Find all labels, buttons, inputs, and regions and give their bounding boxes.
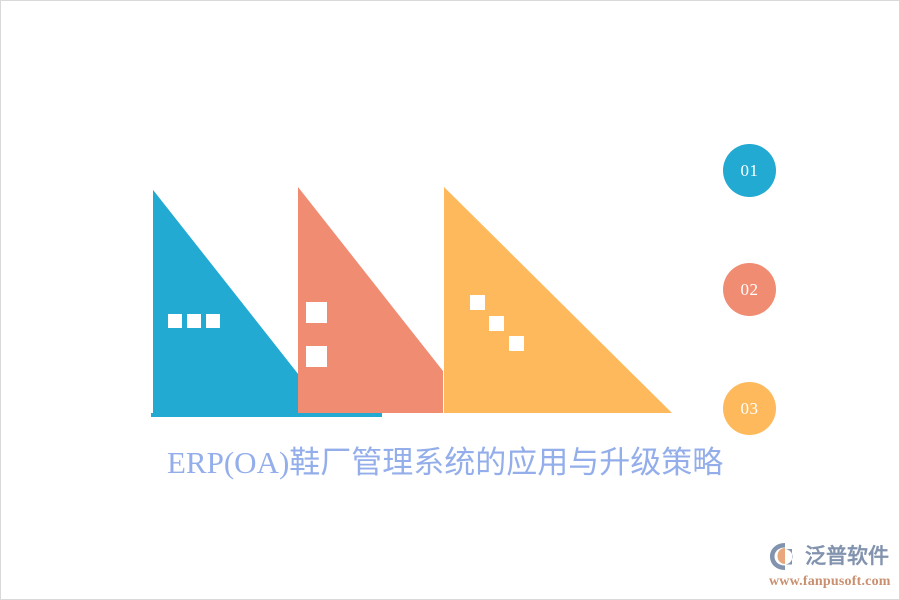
logo-url: www.fanpusoft.com [769,574,895,590]
marker-circle-03[interactable]: 03 [723,382,776,435]
window-blue-2 [187,314,201,328]
window-blue-1 [168,314,182,328]
logo-row: 泛普软件 [769,539,895,573]
window-salmon-2 [306,346,327,367]
marker-label-01: 01 [741,161,759,181]
logo-wordmark: 泛普软件 [805,541,889,571]
salmon-triangle-shape [298,187,443,413]
window-orange-1 [470,295,485,310]
marker-label-03: 03 [741,399,759,419]
window-orange-2 [489,316,504,331]
window-blue-3 [206,314,220,328]
window-salmon-1 [306,302,327,323]
slide-title: ERP(OA)鞋厂管理系统的应用与升级策略 [167,437,687,482]
marker-label-02: 02 [741,280,759,300]
marker-circle-02[interactable]: 02 [723,263,776,316]
marker-circle-01[interactable]: 01 [723,144,776,197]
blue-triangle-slope [153,190,298,413]
brand-watermark: 泛普软件 www.fanpusoft.com [769,539,895,593]
fanpu-logo-icon [769,541,803,571]
slide-canvas: 01 02 03 ERP(OA)鞋厂管理系统的应用与升级策略 泛普软件 www.… [0,0,900,600]
window-orange-3 [509,336,524,351]
blue-underline-bar [151,413,382,417]
